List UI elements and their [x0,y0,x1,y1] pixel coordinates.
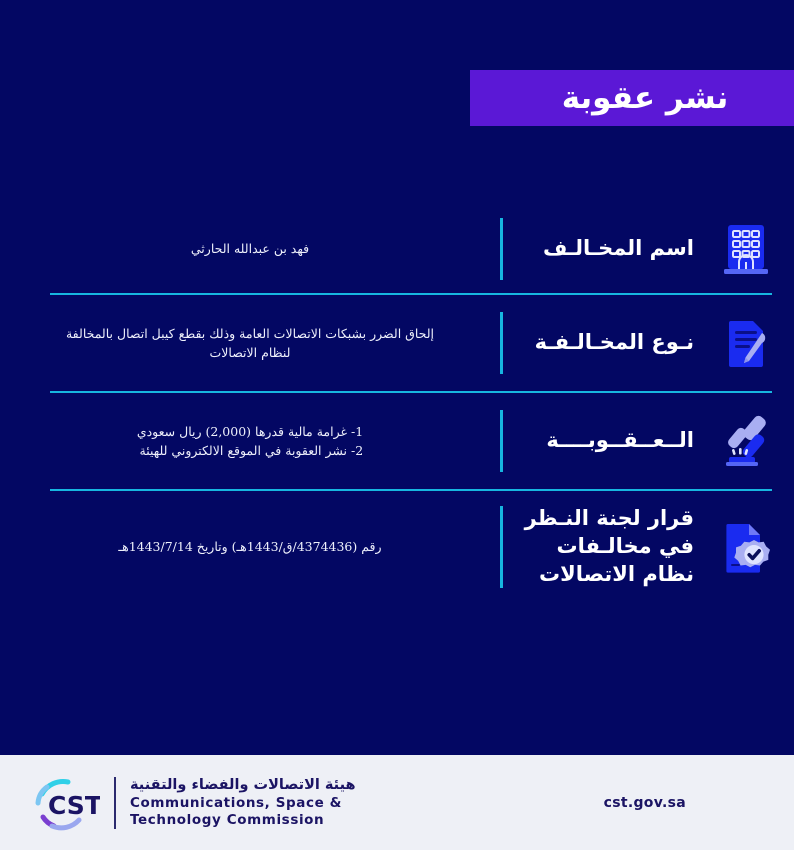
detail-value: رقم (4374436/ق/1443هـ) وتاريخ 1443/7/14ه… [118,537,381,556]
row-icon-cell [698,295,794,391]
brand-block: CST هيئة الاتصالات والفضاء والتقنية Comm… [28,772,356,834]
detail-value: 1- غرامة مالية قدرها (2,000) ريال سعودي … [137,422,363,461]
row-label-cell: قرار لجنة النـظر في مخالـفات نظام الاتصا… [500,491,698,603]
cst-logo-icon: CST [28,772,100,834]
org-name-english-line2: Technology Commission [130,812,356,829]
detail-label: نـوع المخـالـفـة [500,329,694,357]
detail-row-violator-name: اسم المخـالـف فهد بن عبدالله الحارثي [0,205,794,293]
detail-label: اسم المخـالـف [500,235,694,263]
building-icon [718,221,774,277]
detail-label: الــعــقــوبــــة [500,427,694,455]
title-banner: نشر عقوبة [470,70,794,126]
row-label-cell: الــعــقــوبــــة [500,393,698,489]
row-value-cell: إلحاق الضرر بشبكات الاتصالات العامة وذلك… [0,295,500,391]
document-pen-icon [718,315,774,371]
document-verified-icon [718,519,774,575]
footer: CST هيئة الاتصالات والفضاء والتقنية Comm… [0,755,794,850]
row-value-cell: فهد بن عبدالله الحارثي [0,205,500,293]
page-title: نشر عقوبة [562,83,729,114]
org-name-arabic: هيئة الاتصالات والفضاء والتقنية [130,776,356,795]
detail-row-penalty: الــعــقــوبــــة 1- غرامة مالية قدرها (… [0,393,794,489]
website-url[interactable]: cst.gov.sa [604,795,686,811]
row-value-cell: 1- غرامة مالية قدرها (2,000) ريال سعودي … [0,393,500,489]
brand-text-block: هيئة الاتصالات والفضاء والتقنية Communic… [130,776,356,829]
penalty-publication-poster: نشر عقوبة [0,0,794,850]
cst-logo-text: CST [48,791,100,820]
detail-label: قرار لجنة النـظر في مخالـفات نظام الاتصا… [500,505,694,588]
row-icon-cell [698,393,794,489]
org-name-english-line1: Communications, Space & [130,795,356,812]
row-label-cell: نـوع المخـالـفـة [500,295,698,391]
label-accent-bar [500,218,503,280]
brand-divider [114,777,116,829]
details-list: اسم المخـالـف فهد بن عبدالله الحارثي [0,205,794,603]
row-value-cell: رقم (4374436/ق/1443هـ) وتاريخ 1443/7/14ه… [0,491,500,603]
detail-value: إلحاق الضرر بشبكات الاتصالات العامة وذلك… [66,324,434,363]
row-icon-cell [698,491,794,603]
detail-value: فهد بن عبدالله الحارثي [191,239,309,258]
detail-row-violation-type: نـوع المخـالـفـة إلحاق الضرر بشبكات الات… [0,295,794,391]
label-accent-bar [500,410,503,472]
label-accent-bar [500,312,503,374]
row-icon-cell [698,205,794,293]
row-label-cell: اسم المخـالـف [500,205,698,293]
label-accent-bar [500,506,503,588]
gavel-icon [718,413,774,469]
detail-row-committee-decision: قرار لجنة النـظر في مخالـفات نظام الاتصا… [0,491,794,603]
